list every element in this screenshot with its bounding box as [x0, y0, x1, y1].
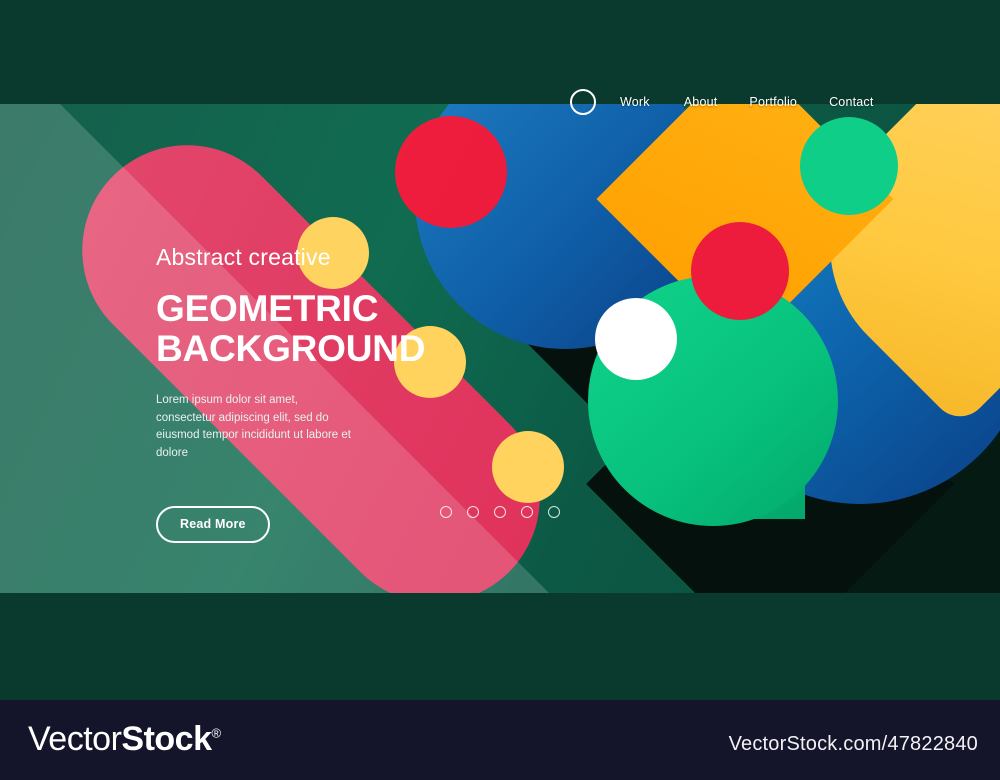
letterbox-bottom — [0, 593, 1000, 700]
white-circle-center — [595, 298, 677, 380]
red-circle-right — [691, 222, 789, 320]
pager-dot-1[interactable] — [440, 506, 452, 518]
hero-banner: Abstract creative GEOMETRIC BACKGROUND L… — [0, 104, 1000, 593]
headline-line-2: BACKGROUND — [156, 329, 576, 369]
watermark-url: VectorStock.com/47822840 — [729, 733, 978, 756]
hero-copy-block: Abstract creative GEOMETRIC BACKGROUND L… — [156, 244, 576, 543]
carousel-pager — [440, 506, 560, 518]
pager-dot-3[interactable] — [494, 506, 506, 518]
headline-line-1: GEOMETRIC — [156, 289, 576, 329]
green-circle-top-right — [800, 117, 898, 215]
pager-dot-4[interactable] — [521, 506, 533, 518]
pager-dot-5[interactable] — [548, 506, 560, 518]
watermark-bar: VectorStock® VectorStock.com/47822840 — [0, 700, 1000, 780]
vectorstock-logo: VectorStock® — [28, 722, 221, 756]
hero-body-text: Lorem ipsum dolor sit amet, consectetur … — [156, 392, 356, 462]
circle-outline-logo-icon[interactable] — [570, 89, 596, 115]
logo-text-bold: Stock — [121, 720, 211, 758]
registered-mark-icon: ® — [211, 726, 220, 741]
read-more-button[interactable]: Read More — [156, 506, 270, 543]
nav-link-about[interactable]: About — [684, 95, 718, 109]
site-navigation: Work About Portfolio Contact — [0, 80, 1000, 124]
nav-link-work[interactable]: Work — [620, 95, 650, 109]
red-circle-top — [395, 116, 507, 228]
artwork-canvas: Abstract creative GEOMETRIC BACKGROUND L… — [0, 0, 1000, 700]
pager-dot-2[interactable] — [467, 506, 479, 518]
hero-eyebrow: Abstract creative — [156, 244, 576, 271]
nav-link-contact[interactable]: Contact — [829, 95, 873, 109]
nav-links-group: Work About Portfolio Contact — [620, 80, 874, 124]
screenshot-stage: Abstract creative GEOMETRIC BACKGROUND L… — [0, 0, 1000, 780]
logo-text-thin: Vector — [28, 720, 121, 758]
page-title: GEOMETRIC BACKGROUND — [156, 289, 576, 368]
nav-link-portfolio[interactable]: Portfolio — [749, 95, 797, 109]
